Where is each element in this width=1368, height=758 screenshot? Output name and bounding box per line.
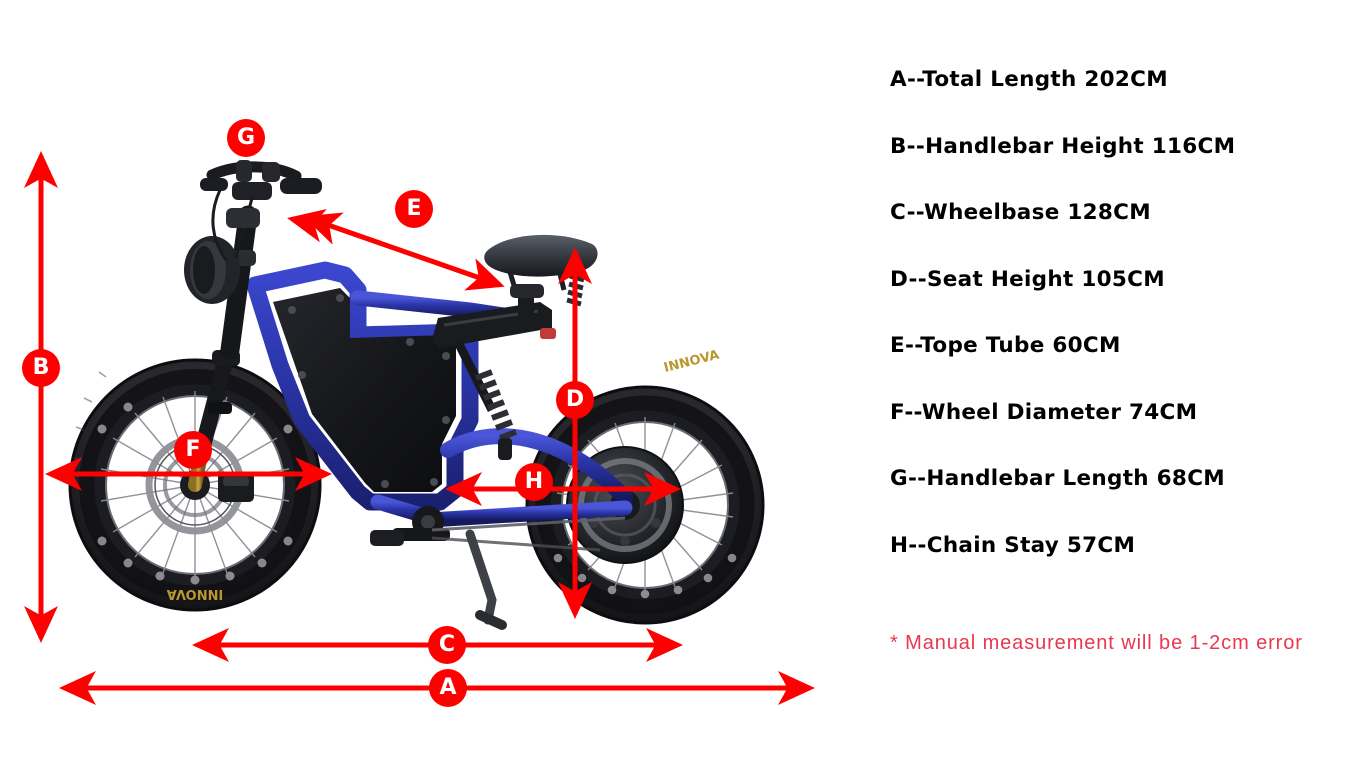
badge-d: D <box>556 381 594 419</box>
bicycle-illustration: INNOVA <box>40 120 840 640</box>
badge-h: H <box>515 463 553 501</box>
badge-e: E <box>395 190 433 228</box>
badge-g: G <box>227 119 265 157</box>
rear-tire-brand-text: INNOVA <box>662 348 720 376</box>
legend-item-d: D--Seat Height 105CM <box>890 266 1350 333</box>
measurement-legend: A--Total Length 202CM B--Handlebar Heigh… <box>890 66 1350 598</box>
legend-item-b: B--Handlebar Height 116CM <box>890 133 1350 200</box>
legend-item-f: F--Wheel Diameter 74CM <box>890 399 1350 466</box>
front-tire-brand-text: INNOVA <box>167 586 224 601</box>
dimension-diagram-page: INNOVA <box>0 0 1368 758</box>
handlebar <box>200 160 322 260</box>
headlight <box>184 236 240 304</box>
badge-b: B <box>22 349 60 387</box>
legend-item-c: C--Wheelbase 128CM <box>890 199 1350 266</box>
badge-f: F <box>174 431 212 469</box>
legend-item-e: E--Tope Tube 60CM <box>890 332 1350 399</box>
legend-item-g: G--Handlebar Length 68CM <box>890 465 1350 532</box>
badge-a: A <box>429 669 467 707</box>
badge-c: C <box>428 626 466 664</box>
legend-item-a: A--Total Length 202CM <box>890 66 1350 133</box>
legend-item-h: H--Chain Stay 57CM <box>890 532 1350 599</box>
measurement-disclaimer: * Manual measurement will be 1-2cm error <box>890 632 1303 655</box>
